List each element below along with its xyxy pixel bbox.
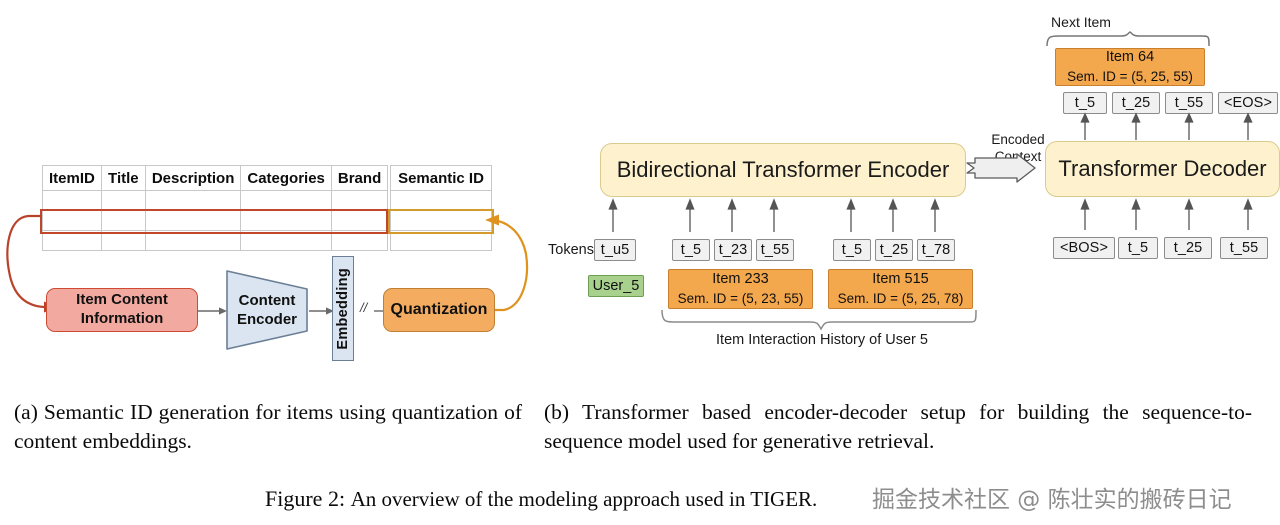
subfigure-a-caption: (a) Semantic ID generation for items usi… — [14, 398, 522, 456]
history-item-1-name: Item 515 — [872, 270, 928, 290]
encoder-input-token-6: t_78 — [917, 239, 955, 261]
item-content-line2: Information — [76, 310, 168, 329]
decoder-input-token-3: t_55 — [1220, 237, 1268, 259]
encoder-input-token-3: t_55 — [756, 239, 794, 261]
panel-b: Next Item Item 64 Sem. ID = (5, 25, 55) … — [540, 0, 1280, 380]
history-item-0-name: Item 233 — [712, 270, 768, 290]
table-header-semantic-id: Semantic ID — [391, 166, 492, 191]
encoder-input-token-0: t_u5 — [594, 239, 636, 261]
table-header-row: Semantic ID — [391, 166, 492, 191]
decoder-output-arrows — [540, 114, 1280, 140]
decoder-output-token-2: t_55 — [1165, 92, 1213, 114]
table-cell — [145, 191, 241, 211]
history-label: Item Interaction History of User 5 — [660, 331, 984, 349]
quantization-node: Quantization — [383, 288, 495, 332]
watermark: 掘金技术社区 @ 陈壮实的搬砖日记 — [872, 480, 1232, 514]
decoder-output-token-3: <EOS> — [1218, 92, 1278, 114]
content-encoder-node: Content Encoder — [225, 269, 309, 351]
decoder-input-token-1: t_5 — [1118, 237, 1158, 259]
table-header-itemid: ItemID — [43, 166, 102, 191]
figure-canvas: ItemID Title Description Categories Bran… — [0, 0, 1280, 525]
user-chip: User_5 — [588, 275, 644, 297]
subfigure-b-caption: (b) Transformer based encoder-decoder se… — [544, 398, 1252, 456]
item-content-line1: Item Content — [76, 291, 168, 310]
history-brace — [660, 310, 984, 330]
content-encoder-label: Content Encoder — [225, 269, 309, 351]
figure-caption-prefix: Figure 2: — [265, 486, 345, 511]
next-item-brace — [1045, 32, 1215, 48]
transformer-decoder-block: Transformer Decoder — [1045, 141, 1280, 197]
table-cell — [241, 191, 332, 211]
decoder-input-token-0: <BOS> — [1053, 237, 1115, 259]
panel-a: ItemID Title Description Categories Bran… — [0, 0, 540, 380]
history-item-1: Item 515 Sem. ID = (5, 25, 78) — [828, 269, 973, 309]
break-symbol: // — [360, 300, 367, 315]
table-header-categories: Categories — [241, 166, 332, 191]
encoded-context-arrow — [967, 158, 1049, 184]
embedding-label: Embedding — [335, 268, 351, 350]
history-item-0: Item 233 Sem. ID = (5, 23, 55) — [668, 269, 813, 309]
next-item-name: Item 64 — [1106, 48, 1154, 68]
encoder-input-token-5: t_25 — [875, 239, 913, 261]
decoder-output-token-0: t_5 — [1063, 92, 1107, 114]
history-item-1-semid: Sem. ID = (5, 25, 78) — [838, 290, 964, 308]
item-to-encoder-arrow — [198, 303, 228, 319]
encoder-input-token-1: t_5 — [672, 239, 710, 261]
next-item-box: Item 64 Sem. ID = (5, 25, 55) — [1055, 48, 1205, 86]
encoder-input-token-2: t_23 — [714, 239, 752, 261]
decoder-output-token-1: t_25 — [1112, 92, 1160, 114]
figure-caption-text: An overview of the modeling approach use… — [351, 487, 818, 511]
table-header-description: Description — [145, 166, 241, 191]
item-content-information-node: Item Content Information — [46, 288, 198, 332]
history-item-0-semid: Sem. ID = (5, 23, 55) — [678, 290, 804, 308]
table-header-title: Title — [101, 166, 145, 191]
decoder-input-token-2: t_25 — [1164, 237, 1212, 259]
table-header-row: ItemID Title Description Categories Bran… — [43, 166, 388, 191]
encoder-input-token-4: t_5 — [833, 239, 871, 261]
next-item-semid: Sem. ID = (5, 25, 55) — [1067, 68, 1193, 86]
tokens-label: Tokens — [548, 242, 594, 258]
figure-caption: Figure 2: An overview of the modeling ap… — [265, 486, 817, 512]
encoder-input-arrows — [540, 200, 1080, 232]
transformer-encoder-block: Bidirectional Transformer Encoder — [600, 143, 966, 197]
content-encoder-line1: Content — [239, 291, 296, 311]
table-cell — [331, 191, 387, 211]
encoded-context-line1: Encoded — [976, 132, 1060, 149]
content-encoder-line2: Encoder — [237, 310, 297, 330]
next-item-label: Next Item — [1026, 14, 1136, 32]
embedding-node: Embedding — [332, 256, 354, 361]
table-header-brand: Brand — [331, 166, 387, 191]
